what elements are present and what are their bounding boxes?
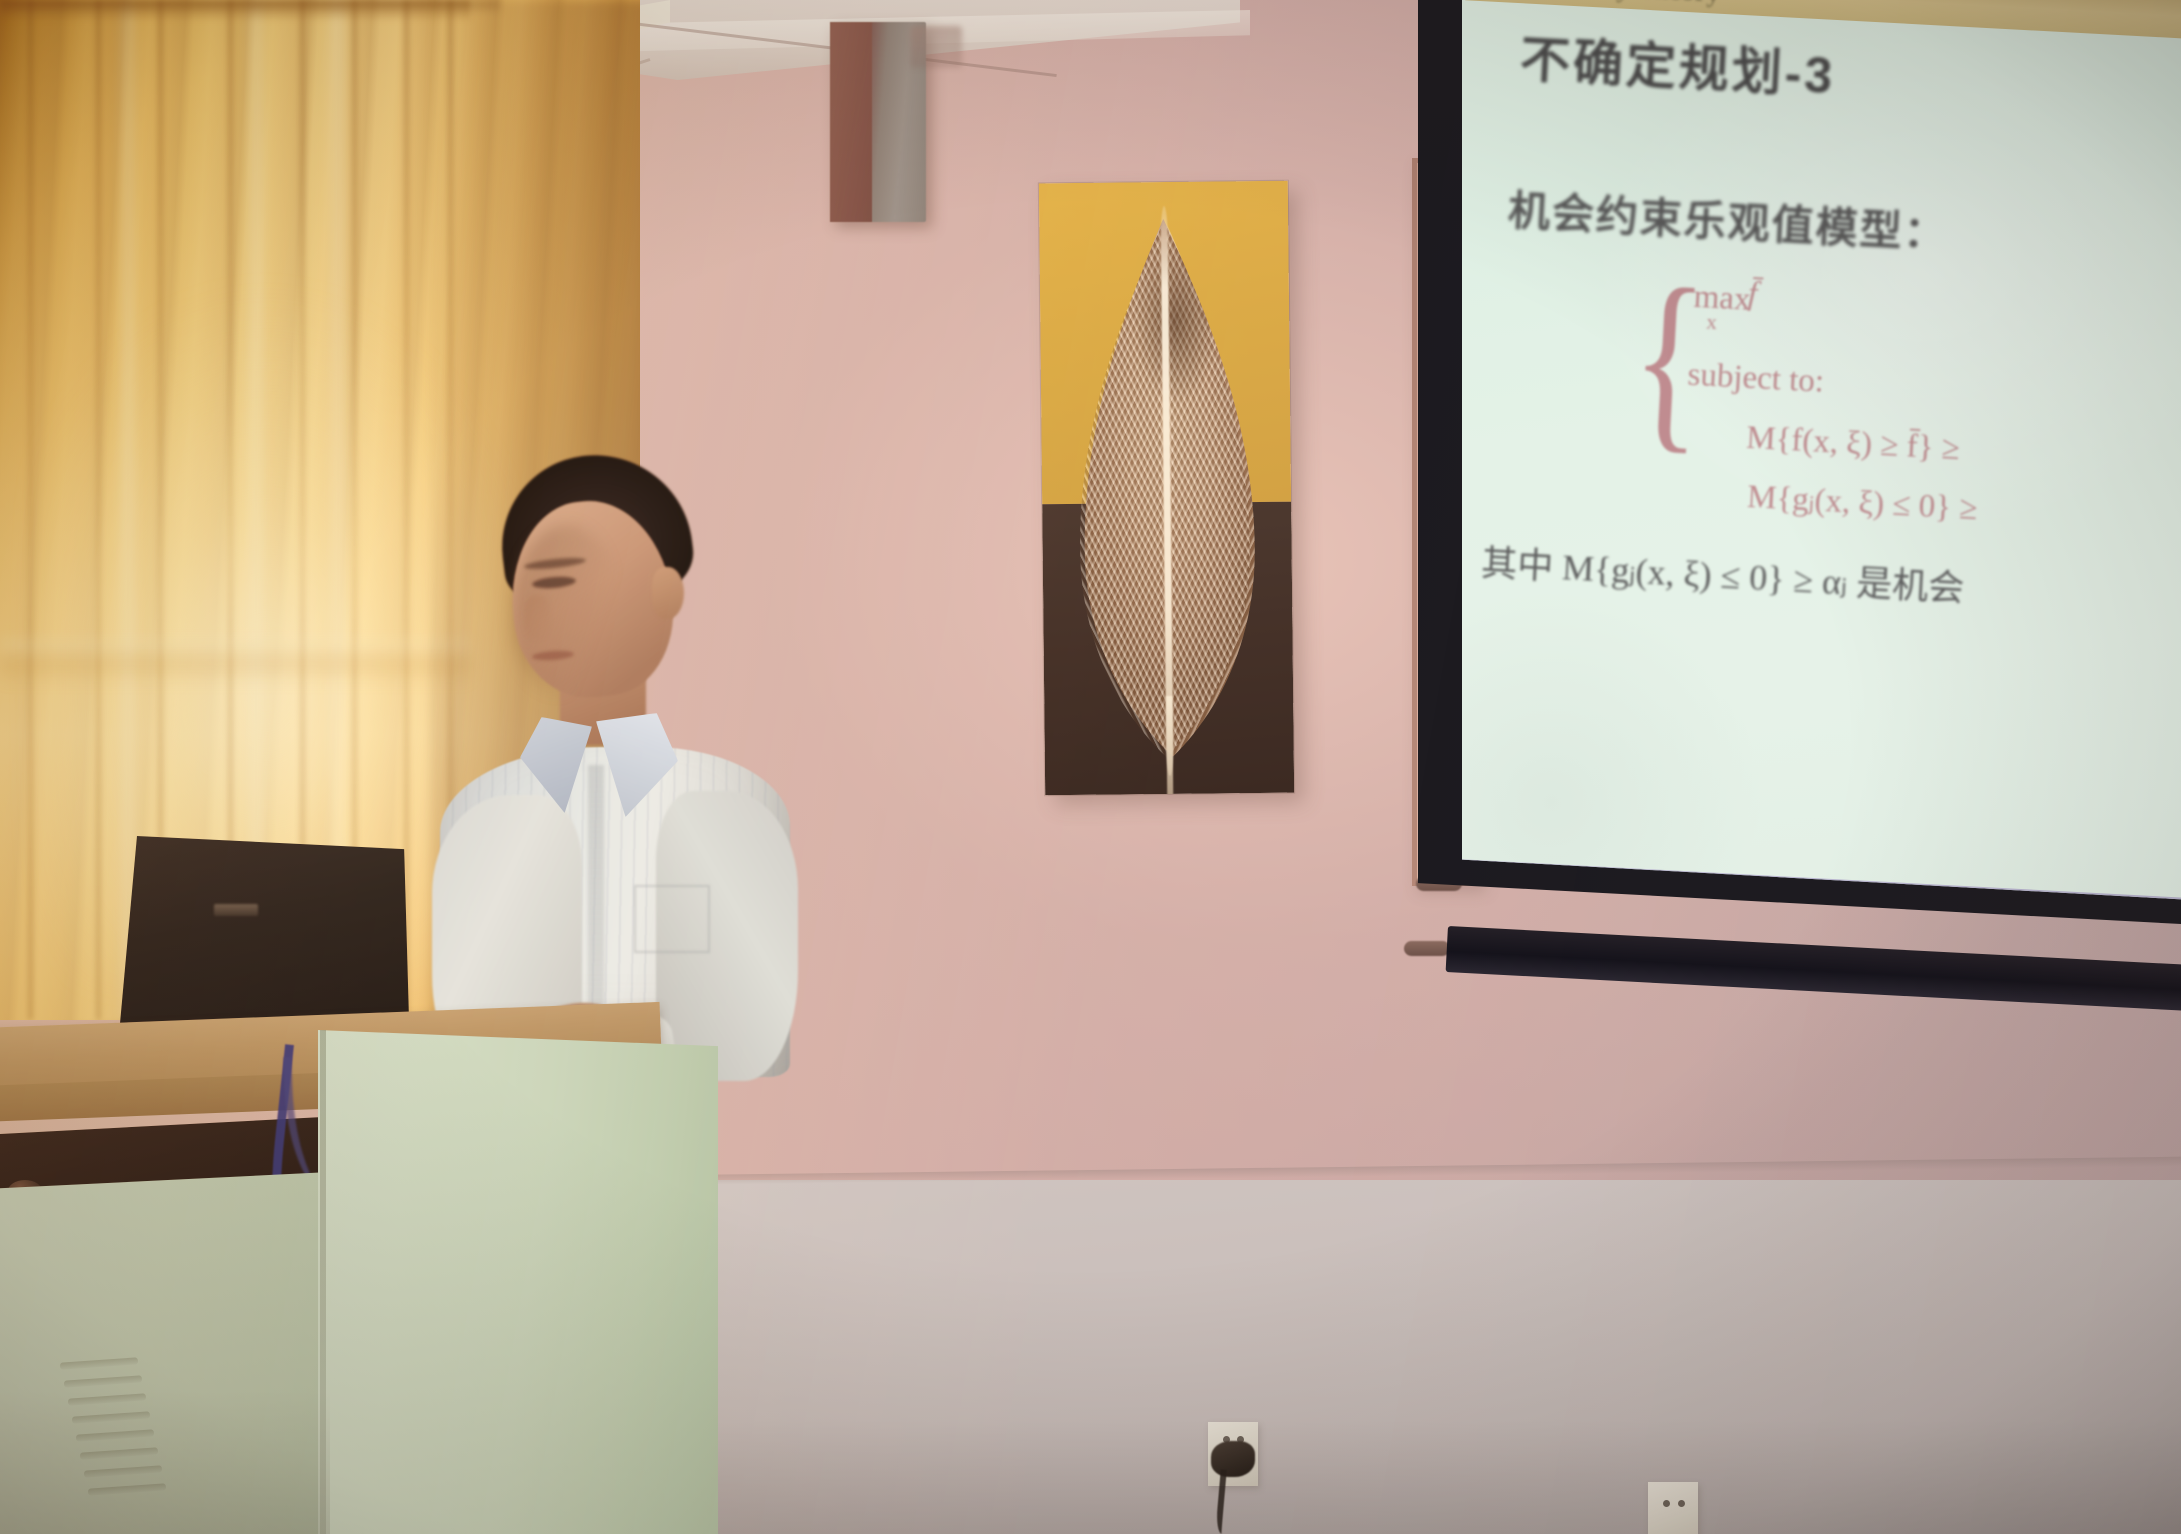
- curtain-fold: [404, 0, 409, 1020]
- presenter-ear: [652, 567, 684, 619]
- outlet-socket-hole: [1678, 1500, 1685, 1507]
- podium-vent-slot: [60, 1357, 138, 1369]
- math-constraint-1: M{f(x, ξ) ≥ f̄} ≥: [1745, 420, 1960, 468]
- curtain-highlight: [120, 0, 136, 1020]
- podium-base-shadow: [0, 1390, 330, 1534]
- math-objective: max: [1693, 279, 1752, 319]
- screen-hook-bottom: [1404, 941, 1450, 956]
- podium-front-panel: [318, 1030, 718, 1534]
- lecture-room-photo: 书法作品 Uncertainty Theory 不确定规划-3 机会约束乐观值模…: [0, 0, 2181, 1534]
- podium-vent-slot: [64, 1375, 142, 1387]
- math-subject-to: subject to:: [1687, 357, 1825, 401]
- outlet-socket-hole: [1663, 1500, 1670, 1507]
- math-objective-variable: f̄: [1747, 276, 1758, 313]
- speaker-bracket: [910, 26, 962, 68]
- curtain-fold: [96, 0, 101, 1020]
- projection-screen: Uncertainty Theory 不确定规划-3 机会约束乐观值模型： { …: [1418, 0, 2181, 1021]
- curtain-hem-seam: [0, 640, 470, 686]
- slide-header-title: Uncertainty Theory: [1491, 0, 1721, 9]
- outlet-right[interactable]: [1648, 1482, 1698, 1534]
- shirt-pocket: [634, 885, 710, 953]
- presenter-nose: [524, 595, 550, 639]
- slide-explanatory-note: 其中 M{gⱼ(x, ξ) ≤ 0} ≥ αⱼ 是机会: [1480, 534, 1966, 612]
- curtain-fold: [28, 0, 33, 1020]
- slide-section-label: 机会约束乐观值模型：: [1507, 177, 1950, 261]
- math-constraint-2: M{gⱼ(x, ξ) ≤ 0} ≥: [1746, 476, 1978, 528]
- leaf-stem: [1166, 696, 1173, 795]
- slide-title: 不确定规划-3: [1518, 19, 1837, 108]
- floor-shadow: [640, 1420, 2181, 1534]
- math-objective-subscript: x: [1706, 310, 1718, 336]
- projected-slide: Uncertainty Theory 不确定规划-3 机会约束乐观值模型： { …: [1462, 0, 2181, 946]
- leaf-painting: [1039, 181, 1294, 796]
- screen-projection-surface: Uncertainty Theory 不确定规划-3 机会约束乐观值模型： { …: [1462, 0, 2181, 946]
- presenter: [420, 455, 820, 1055]
- laptop-brand-logo: [214, 904, 258, 916]
- speaker-face: [830, 22, 872, 222]
- screen-weight-bar: [1446, 926, 2181, 1012]
- window-header-trim: [0, 0, 500, 14]
